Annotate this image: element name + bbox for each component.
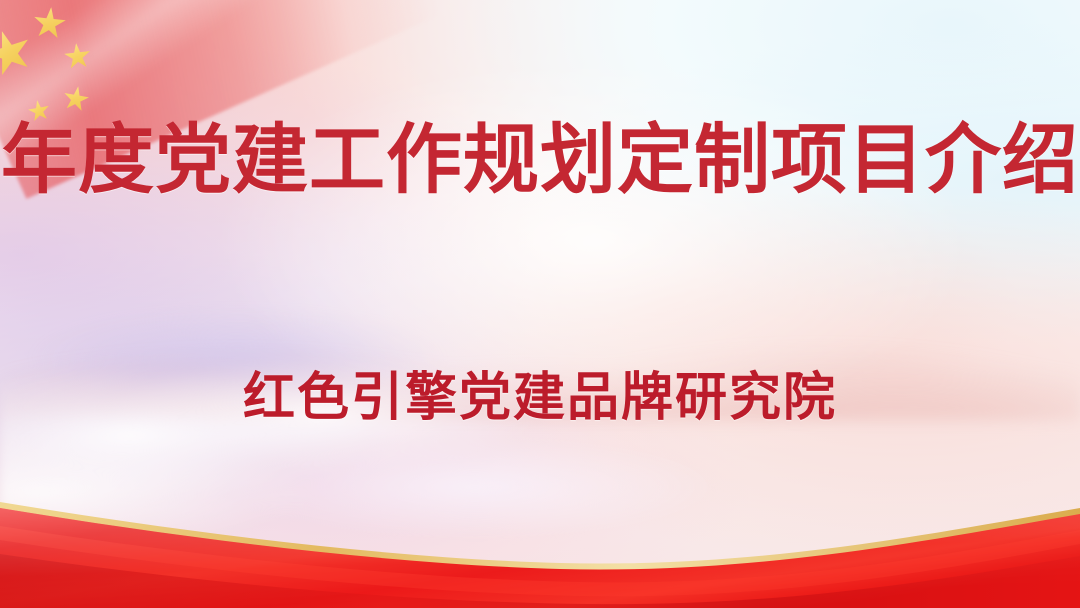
ribbon-graphic — [0, 468, 1080, 608]
subtitle-block: 红色引擎党建品牌研究院 — [0, 368, 1080, 430]
red-silk-ribbon — [0, 468, 1080, 608]
title-block: 年度党建工作规划定制项目介绍 — [0, 118, 1080, 204]
presentation-slide: 年度党建工作规划定制项目介绍 红色引擎党建品牌研究院 — [0, 0, 1080, 608]
organization-name: 红色引擎党建品牌研究院 — [0, 368, 1080, 430]
page-title: 年度党建工作规划定制项目介绍 — [0, 118, 1080, 204]
